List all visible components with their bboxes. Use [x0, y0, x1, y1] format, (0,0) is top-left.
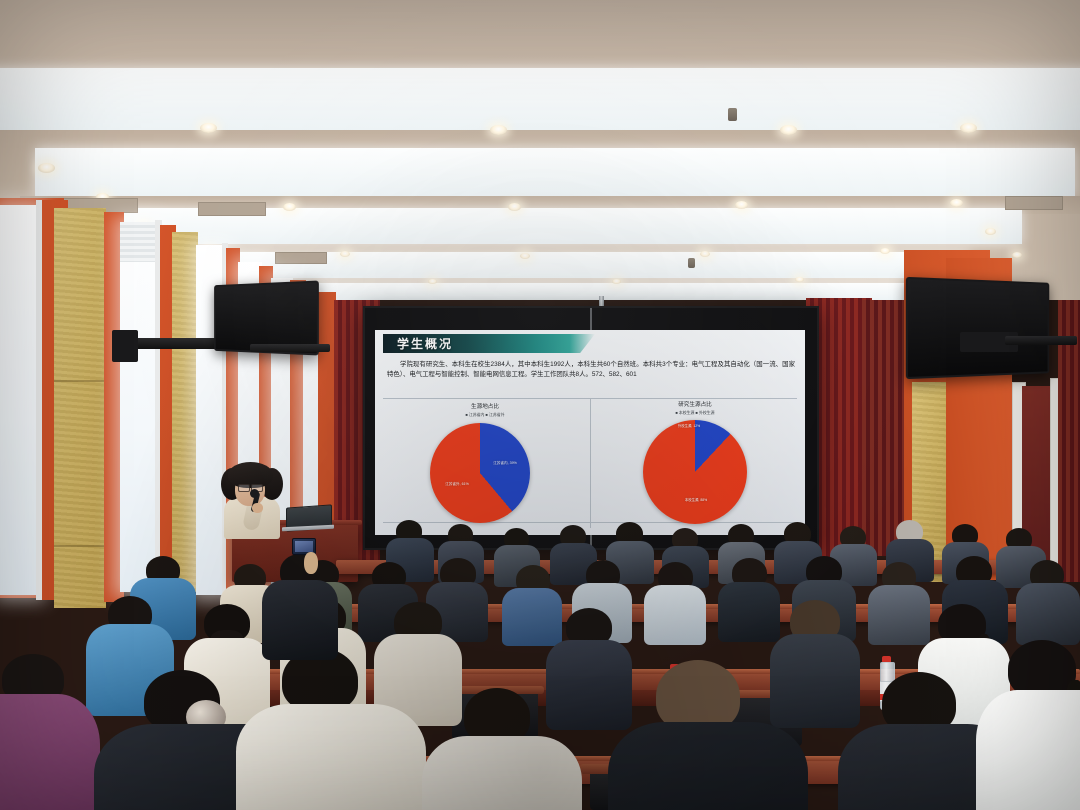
downlight	[612, 279, 621, 284]
torso	[868, 585, 930, 645]
downlight	[985, 228, 996, 235]
presenter-hand	[252, 503, 263, 513]
pie-chart-right	[643, 420, 747, 524]
pie-slice-label-left-blue: 江苏省内, 39%	[479, 461, 531, 465]
torso	[770, 634, 860, 728]
slide-title-banner: 学生概况	[383, 334, 595, 353]
torso	[1016, 583, 1080, 645]
torso	[262, 580, 338, 660]
torso	[502, 588, 562, 646]
torso	[236, 704, 426, 810]
torso	[608, 722, 808, 810]
pie-slice-label-right-blue: 外校生源, 12%	[663, 424, 715, 428]
chart-legend-left: ■ 江苏省内 ■ 江苏省外	[415, 412, 555, 418]
slide-divider-vertical	[590, 398, 591, 528]
downlight	[795, 277, 804, 282]
ceiling-vent	[1005, 196, 1063, 210]
slide-divider-bottom	[383, 522, 797, 523]
downlight	[950, 199, 963, 207]
window-blind	[120, 222, 158, 262]
back-wall-slats-far-right	[862, 300, 910, 556]
display-mount-arm-left-2	[250, 344, 330, 352]
wall-mounted-display-right	[906, 277, 1049, 379]
downlight	[283, 203, 296, 211]
chart-title-right: 研究生源占比	[630, 400, 760, 408]
sprinkler-head	[688, 258, 695, 268]
window-left-1	[0, 205, 40, 595]
torso	[422, 736, 582, 810]
downlight	[428, 279, 437, 284]
presenter-glasses	[238, 484, 250, 492]
pillar-seam	[54, 545, 106, 547]
downlight	[200, 123, 217, 133]
ceiling-light-panel	[35, 148, 1075, 196]
downlight	[38, 163, 55, 173]
ceiling-vent	[275, 252, 327, 264]
downlight	[880, 248, 890, 254]
pie-chart-left	[430, 423, 530, 523]
slide-title: 学生概况	[397, 335, 453, 352]
display-mount-bracket-left	[112, 330, 138, 362]
slide-body-text: 学院现有研究生、本科生在校生2384人，其中本科生1992人，本科生共60个自然…	[387, 360, 795, 379]
downlight	[960, 123, 977, 133]
downlight	[520, 253, 530, 259]
ceiling-light-panel	[0, 68, 1080, 130]
torso	[644, 585, 706, 645]
chart-legend-right: ■ 本校生源 ■ 外校生源	[625, 410, 765, 416]
pie-slice-label-right-orange: 本校生源, 88%	[665, 498, 727, 502]
wall-pillar-left	[54, 208, 106, 608]
downlight	[490, 125, 507, 135]
downlight	[700, 251, 710, 257]
downlight	[1012, 252, 1022, 258]
downlight	[508, 203, 521, 211]
raised-hand	[304, 552, 318, 574]
torso	[976, 690, 1080, 810]
ceiling-vent	[198, 202, 266, 216]
downlight	[780, 125, 797, 135]
presentation-slide: 学生概况 学院现有研究生、本科生在校生2384人，其中本科生1992人，本科生共…	[375, 330, 805, 535]
phone-screen	[295, 541, 313, 552]
chart-title-left: 生源地占比	[420, 402, 550, 410]
display-mount-arm-right	[1005, 336, 1077, 345]
wall-pillar-left-2	[172, 232, 198, 592]
torso	[718, 582, 780, 642]
microphone-head-icon	[250, 489, 259, 498]
pie-slice-label-left-orange: 江苏省外, 61%	[431, 482, 483, 486]
pillar-seam	[54, 380, 106, 382]
downlight	[340, 251, 350, 257]
downlight	[735, 201, 748, 209]
torso	[546, 640, 632, 730]
torso	[0, 694, 100, 810]
window-left-2	[120, 222, 158, 592]
sprinkler-head	[728, 108, 737, 121]
lecture-hall-photo: 学生概况 学院现有研究生、本科生在校生2384人，其中本科生1992人，本科生共…	[0, 0, 1080, 810]
